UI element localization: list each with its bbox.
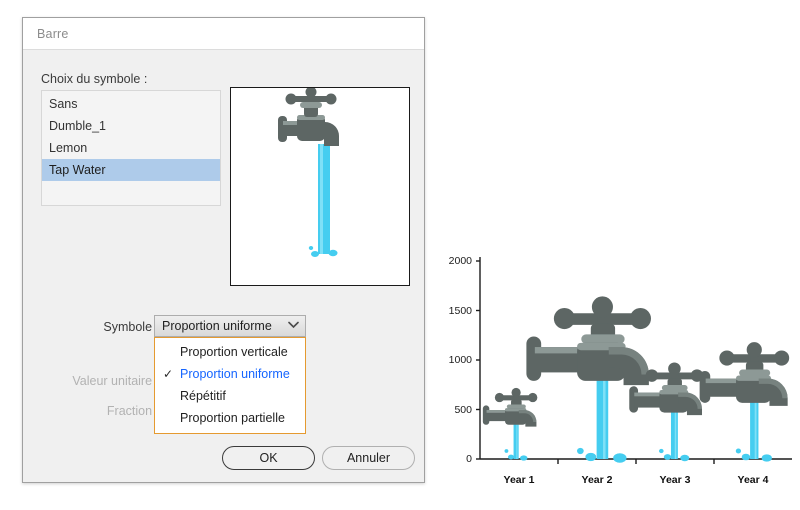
y-axis-tick-label: 0 — [466, 453, 472, 465]
symbole-dropdown-menu[interactable]: Proportion verticale ✓ Proportion unifor… — [154, 337, 306, 434]
list-item[interactable]: Lemon — [42, 137, 220, 159]
barre-dialog: Barre Choix du symbole : Sans Dumble_1 L… — [22, 17, 425, 483]
menu-item[interactable]: Proportion verticale — [155, 341, 305, 363]
y-axis-tick-label: 500 — [454, 404, 472, 416]
symbol-preview — [230, 87, 410, 286]
fraction-label: Fraction : — [41, 404, 159, 418]
pictogram-bar-chart: 0500100015002000 Year 1Year 2Year 3Year … — [440, 245, 795, 495]
y-axis-tick-label: 2000 — [449, 255, 472, 267]
symbole-select[interactable]: Proportion uniforme — [154, 315, 306, 337]
dialog-titlebar: Barre — [23, 18, 424, 50]
y-axis-tick-labels: 0500100015002000 — [440, 245, 472, 495]
plot-area — [476, 245, 795, 495]
x-axis-tick-label: Year 3 — [660, 474, 691, 486]
chart-svg — [476, 245, 795, 495]
dialog-title: Barre — [37, 27, 69, 41]
list-item[interactable]: Dumble_1 — [42, 115, 220, 137]
symbol-list[interactable]: Sans Dumble_1 Lemon Tap Water — [41, 90, 221, 206]
symbole-select-value: Proportion uniforme — [162, 319, 288, 333]
menu-item-label: Proportion verticale — [180, 345, 288, 359]
menu-item-label: Proportion uniforme — [180, 367, 290, 381]
menu-item-label: Répétitif — [180, 389, 226, 403]
list-item-selected[interactable]: Tap Water — [42, 159, 220, 181]
valeur-unitaire-label: Valeur unitaire : — [41, 374, 159, 388]
x-axis-tick-label: Year 4 — [738, 474, 769, 486]
tap-water-preview-icon — [231, 88, 409, 284]
ok-button-label: OK — [259, 451, 277, 465]
menu-item-label: Proportion partielle — [180, 411, 285, 425]
bar-tap-pictogram — [700, 342, 790, 462]
cancel-button[interactable]: Annuler — [322, 446, 415, 470]
ok-button[interactable]: OK — [222, 446, 315, 470]
x-axis-tick-label: Year 2 — [582, 474, 613, 486]
chevron-down-icon — [288, 321, 299, 332]
menu-item[interactable]: Proportion partielle — [155, 407, 305, 429]
symbol-choice-label: Choix du symbole : — [41, 72, 147, 86]
list-item[interactable]: Sans — [42, 93, 220, 115]
y-axis-tick-label: 1000 — [449, 354, 472, 366]
check-icon: ✓ — [163, 363, 173, 385]
bar-tap-pictogram — [526, 296, 651, 462]
y-axis-tick-label: 1500 — [449, 305, 472, 317]
menu-item-selected[interactable]: ✓ Proportion uniforme — [155, 363, 305, 385]
cancel-button-label: Annuler — [347, 451, 390, 465]
bar-tap-pictogram — [483, 388, 538, 461]
x-axis-tick-label: Year 1 — [504, 474, 535, 486]
menu-item[interactable]: Répétitif — [155, 385, 305, 407]
symbole-label: Symbole : — [76, 320, 159, 334]
